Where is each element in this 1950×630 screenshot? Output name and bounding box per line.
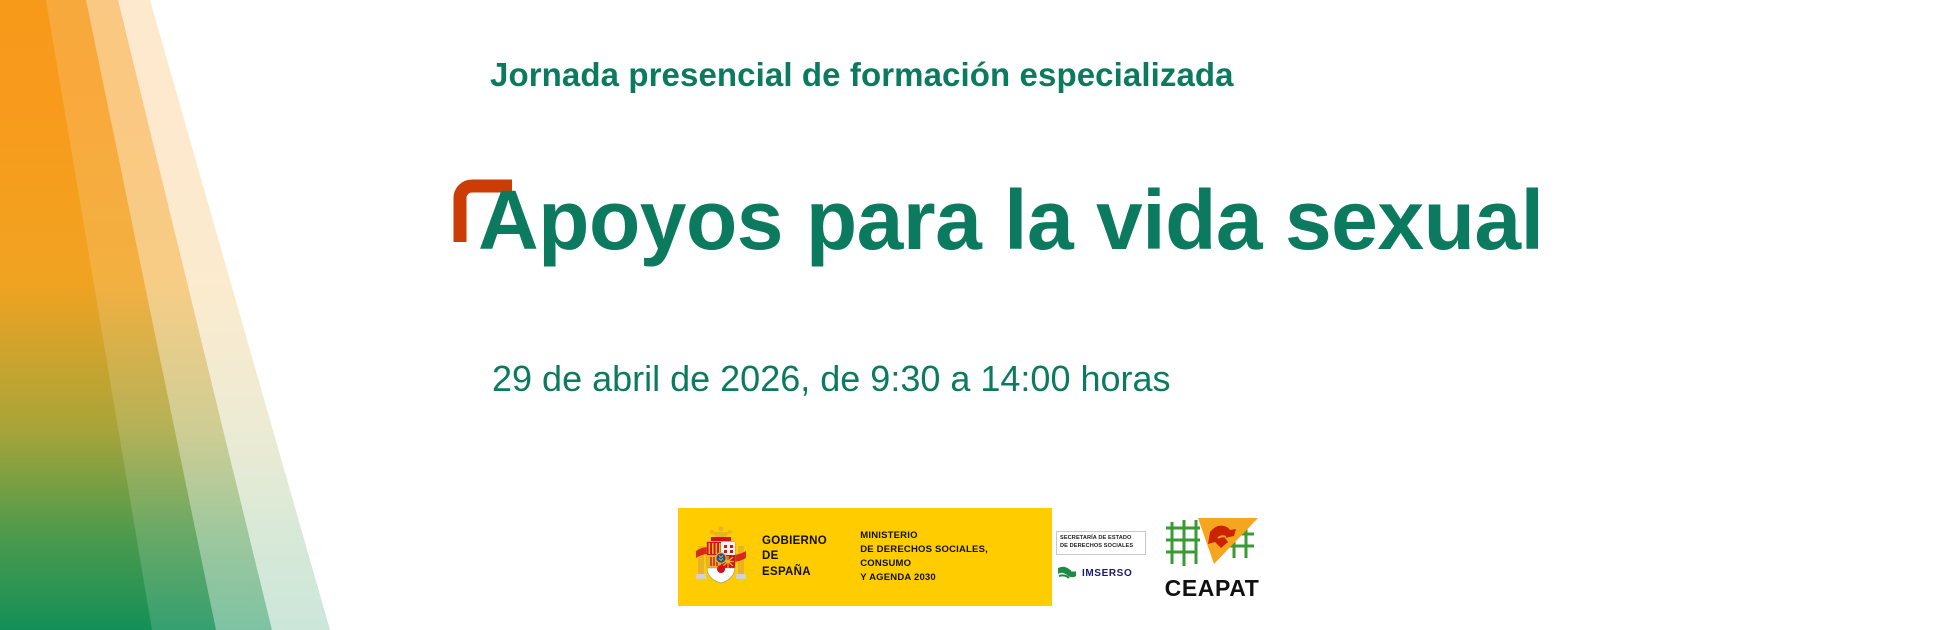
diagonal-stripes-decoration: [0, 0, 420, 630]
spain-coat-of-arms-icon: [694, 524, 748, 590]
gobierno-de-espana-logo: GOBIERNO DE ESPAÑA MINISTERIO DE DERECHO…: [678, 508, 1050, 606]
secretaria-imserso-logo: SECRETARÍA DE ESTADO DE DERECHOS SOCIALE…: [1050, 508, 1146, 606]
page-title: Apoyos para la vida sexual: [478, 178, 1543, 262]
event-datetime: 29 de abril de 2026, de 9:30 a 14:00 hor…: [492, 358, 1171, 400]
imserso-icon: [1056, 565, 1078, 583]
event-banner: Jornada presencial de formación especial…: [0, 0, 1950, 630]
ceapat-label: CEAPAT: [1165, 577, 1260, 600]
ceapat-logo: CEAPAT: [1156, 508, 1268, 606]
logo-strip: GOBIERNO DE ESPAÑA MINISTERIO DE DERECHO…: [678, 508, 1268, 606]
imserso-label: IMSERSO: [1082, 568, 1132, 579]
gobierno-label: GOBIERNO DE ESPAÑA: [762, 534, 830, 581]
imserso-logo: IMSERSO: [1056, 565, 1146, 583]
ceapat-icon: [1162, 510, 1262, 576]
secretaria-de-estado-label: SECRETARÍA DE ESTADO DE DERECHOS SOCIALE…: [1056, 531, 1146, 554]
event-kicker: Jornada presencial de formación especial…: [490, 56, 1234, 94]
ministerio-label: MINISTERIO DE DERECHOS SOCIALES, CONSUMO…: [860, 529, 1040, 584]
